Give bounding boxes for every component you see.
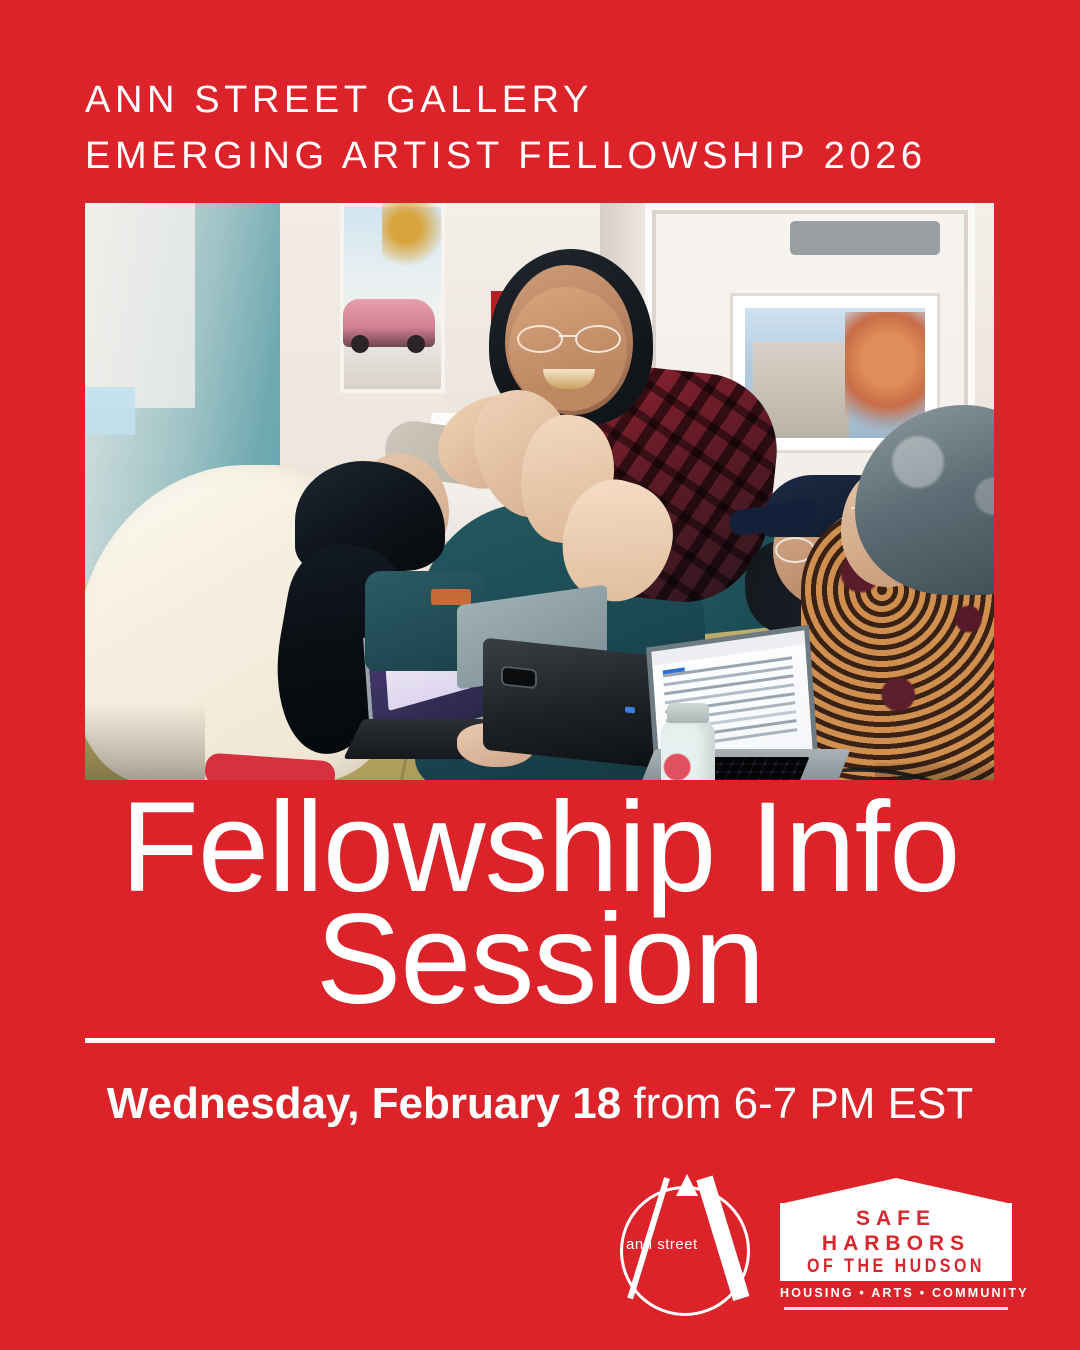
logo-row: ann street SAFE HARBORS OF THE HUDSON HO… xyxy=(612,1178,1012,1318)
photo-street-window xyxy=(340,203,445,393)
page-title-line-2: Session xyxy=(0,904,1080,1016)
photo-street-car xyxy=(343,299,435,347)
safe-harbors-wordmark-box: SAFE HARBORS OF THE HUDSON xyxy=(780,1203,1012,1281)
photo-projector xyxy=(483,638,663,769)
projector-led xyxy=(625,706,635,713)
ann-street-logo-text: ann street xyxy=(626,1236,738,1253)
safe-harbors-roof-icon xyxy=(780,1178,1012,1204)
event-date: Wednesday, February 18 xyxy=(107,1079,621,1128)
projector-lens xyxy=(501,665,537,689)
event-photo xyxy=(85,203,994,780)
ann-street-gallery-logo[interactable]: ann street xyxy=(612,1180,752,1316)
poster-canvas: ANN STREET GALLERY EMERGING ARTIST FELLO… xyxy=(0,0,1080,1350)
logo-a-apex xyxy=(676,1174,698,1196)
glasses-lens-left xyxy=(517,325,563,353)
photo-window-foliage xyxy=(845,312,925,432)
header-block: ANN STREET GALLERY EMERGING ARTIST FELLO… xyxy=(85,72,1015,184)
safe-harbors-underline xyxy=(784,1307,1008,1310)
page-title: Fellowship Info Session xyxy=(0,792,1080,1016)
bag-tag xyxy=(431,589,471,605)
photo-blue-panel xyxy=(85,387,135,435)
photo-shadow-edge xyxy=(85,703,205,780)
glasses-lens-right xyxy=(575,325,621,353)
photo-door-closer xyxy=(790,221,940,255)
header-line-1: ANN STREET GALLERY xyxy=(85,72,1015,128)
photo-door-window xyxy=(745,308,925,438)
safe-harbors-line-3: OF THE HUDSON xyxy=(807,1254,985,1281)
header-line-2: EMERGING ARTIST FELLOWSHIP 2026 xyxy=(85,128,1015,184)
safe-harbors-tagline: HOUSING • ARTS • COMMUNITY xyxy=(780,1286,1012,1300)
bottle-cap xyxy=(667,703,709,723)
photo-center-person-glasses xyxy=(517,325,621,351)
divider-rule xyxy=(85,1038,995,1043)
event-time: from 6-7 PM EST xyxy=(621,1079,973,1128)
safe-harbors-line-1: SAFE xyxy=(856,1206,936,1231)
safe-harbors-line-2: HARBORS xyxy=(822,1231,970,1256)
photo-street-tree xyxy=(382,203,442,265)
safe-harbors-logo[interactable]: SAFE HARBORS OF THE HUDSON HOUSING • ART… xyxy=(780,1178,1012,1318)
photo-wall-artwork xyxy=(85,203,195,408)
photo-water-bottle xyxy=(661,719,715,780)
event-datetime: Wednesday, February 18 from 6-7 PM EST xyxy=(0,1076,1080,1132)
